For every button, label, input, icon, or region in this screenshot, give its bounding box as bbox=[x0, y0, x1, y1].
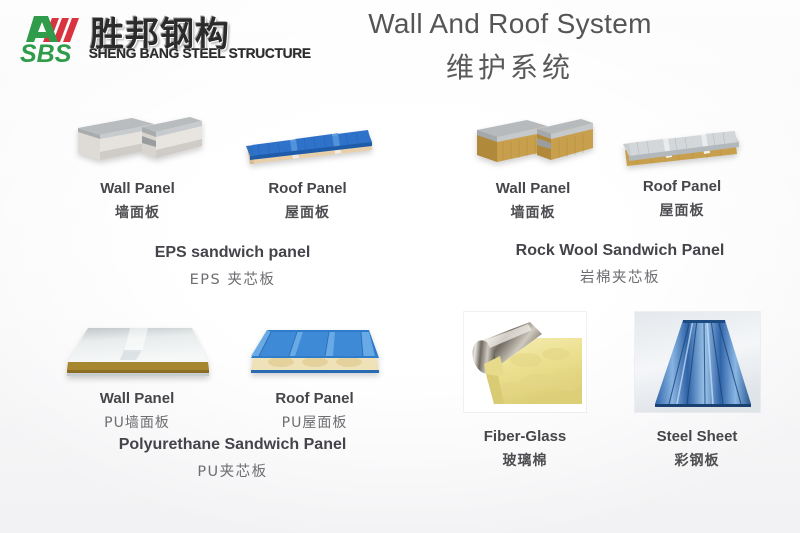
product-group-eps: Wall Panel 墙面板 bbox=[45, 108, 420, 289]
eps-roof-label-en: Roof Panel bbox=[220, 180, 395, 197]
product-rockwool-roof-panel: Roof Panel 屋面板 bbox=[602, 114, 762, 220]
pu-wall-label-cn: PU墙面板 bbox=[47, 412, 227, 432]
company-logo: SBS 胜邦钢构 SHENG BANG STEEL STRUCTURE bbox=[8, 4, 270, 70]
fiber-glass-roll-image bbox=[464, 312, 586, 412]
rockwool-group-label-en: Rock Wool Sandwich Panel bbox=[450, 242, 790, 260]
svg-text:1:100: 1:100 bbox=[76, 521, 98, 533]
logo-english-name: SHENG BANG STEEL STRUCTURE bbox=[89, 46, 311, 61]
title-chinese: 维护系统 bbox=[300, 46, 720, 86]
steel-sheet-label-en: Steel Sheet bbox=[612, 428, 782, 445]
eps-wall-label-cn: 墙面板 bbox=[55, 202, 220, 222]
rockwool-wall-label-en: Wall Panel bbox=[458, 180, 608, 197]
product-pu-wall-panel: Wall Panel PU墙面板 bbox=[47, 322, 227, 432]
eps-group-label-cn: EPS 夹芯板 bbox=[45, 268, 420, 289]
eps-wall-label-en: Wall Panel bbox=[55, 180, 220, 197]
rockwool-roof-label-cn: 屋面板 bbox=[602, 200, 762, 220]
pu-group-label-en: Polyurethane Sandwich Panel bbox=[45, 436, 420, 454]
steel-sheet-label-cn: 彩钢板 bbox=[612, 450, 782, 470]
pu-wall-label-en: Wall Panel bbox=[47, 390, 227, 407]
svg-text:C-60: C-60 bbox=[690, 479, 708, 488]
rockwool-group-label-cn: 岩棉夹芯板 bbox=[450, 266, 790, 287]
product-eps-wall-panel: Wall Panel 墙面板 bbox=[55, 108, 220, 222]
rockwool-roof-panel-image bbox=[617, 114, 747, 174]
fiber-glass-label-en: Fiber-Glass bbox=[440, 428, 610, 445]
rockwool-wall-label-cn: 墙面板 bbox=[458, 202, 608, 222]
eps-roof-panel-image bbox=[238, 112, 378, 176]
pu-roof-label-cn: PU屋面板 bbox=[227, 412, 402, 432]
page-title: Wall And Roof System 维护系统 bbox=[300, 8, 720, 86]
eps-wall-panel-image bbox=[70, 108, 205, 176]
slide-canvas: GARAGE A-4 PLAN SECTION B-B bbox=[0, 0, 800, 533]
rockwool-roof-label-en: Roof Panel bbox=[602, 178, 762, 195]
product-group-materials: Fiber-Glass 玻璃棉 bbox=[440, 312, 790, 432]
sbs-logo-mark: SBS bbox=[12, 8, 90, 66]
product-eps-roof-panel: Roof Panel 屋面板 bbox=[220, 112, 395, 222]
product-group-rockwool: Wall Panel 墙面板 bbox=[450, 108, 790, 287]
pu-group-label-cn: PU夹芯板 bbox=[45, 460, 420, 481]
eps-roof-label-cn: 屋面板 bbox=[220, 202, 395, 222]
steel-sheet-image bbox=[635, 312, 760, 412]
svg-text:SBS: SBS bbox=[20, 40, 72, 66]
pu-roof-panel-image bbox=[245, 326, 385, 380]
title-english: Wall And Roof System bbox=[300, 8, 720, 40]
product-pu-roof-panel: Roof Panel PU屋面板 bbox=[227, 326, 402, 432]
svg-text:25'-0": 25'-0" bbox=[350, 493, 371, 502]
product-fiber-glass: Fiber-Glass 玻璃棉 bbox=[440, 312, 610, 470]
fiber-glass-label-cn: 玻璃棉 bbox=[440, 450, 610, 470]
pu-wall-panel-image bbox=[62, 322, 212, 380]
product-rockwool-wall-panel: Wall Panel 墙面板 bbox=[458, 112, 608, 222]
rockwool-wall-panel-image bbox=[471, 112, 596, 176]
product-group-pu: Wall Panel PU墙面板 bbox=[45, 322, 420, 481]
pu-roof-label-en: Roof Panel bbox=[227, 390, 402, 407]
eps-group-label-en: EPS sandwich panel bbox=[45, 244, 420, 262]
product-steel-sheet: Steel Sheet 彩钢板 bbox=[612, 312, 782, 470]
